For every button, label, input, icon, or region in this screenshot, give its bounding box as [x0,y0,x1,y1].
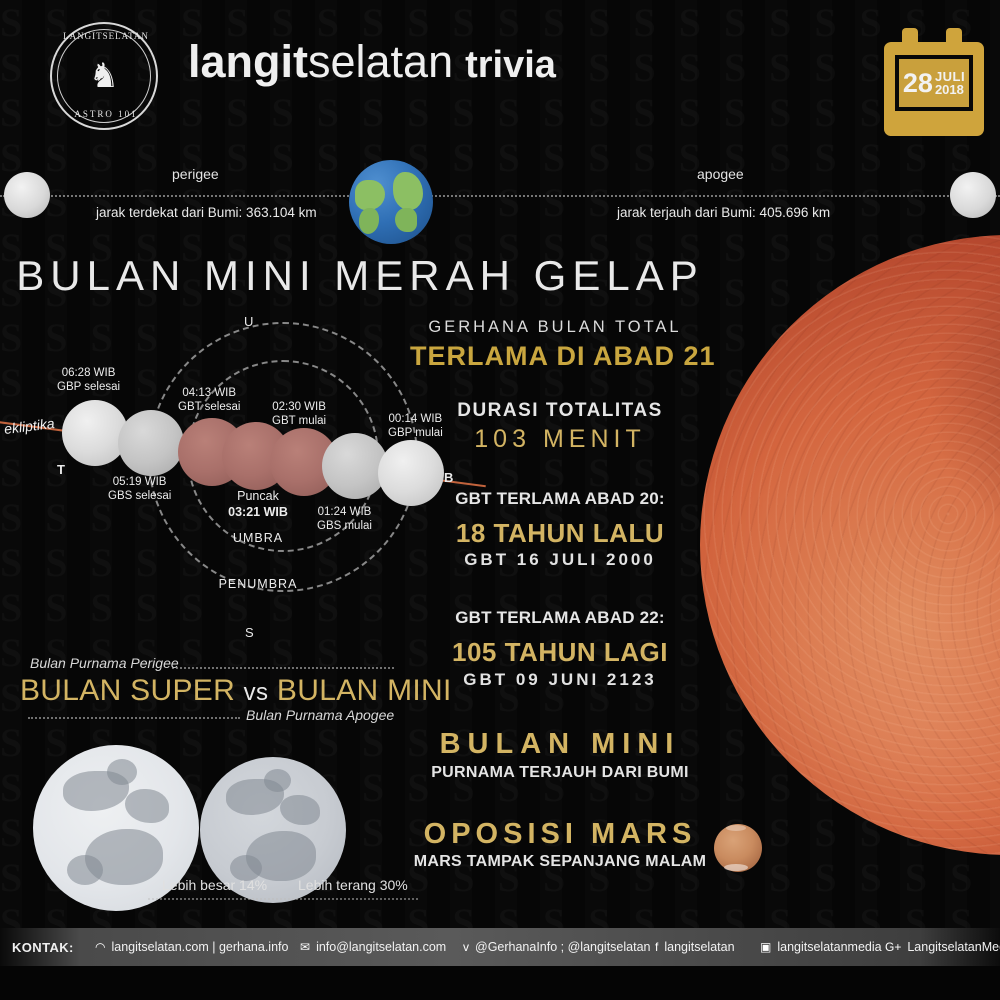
twitter-icon: ᴠ [463,940,469,954]
compare-stat-divider [148,898,418,900]
phase-label-0628: 06:28 WIBGBP selesai [57,366,120,394]
footer-kontak-label: KONTAK: [12,940,74,955]
perigee-moon-icon [4,172,50,218]
compare-title: BULAN SUPER vs BULAN MINI [20,674,410,708]
direction-label-west: B [444,470,453,485]
phase-label-0519: 05:19 WIBGBS selesai [108,475,171,503]
mail-icon: ✉ [300,940,310,954]
footer-instagram[interactable]: ▣ langitselatanmedia [760,940,882,954]
footer-instagram-text: langitselatanmedia [777,940,881,954]
supermoon-vs-minimoon-section: Bulan Purnama Perigee BULAN SUPER vs BUL… [0,655,420,925]
century20-label: GBT TERLAMA ABAD 20: [420,489,700,509]
mars-title: OPOSISI MARS [420,818,700,851]
footer-googleplus-text: LangitselatanMedia [907,940,1000,954]
contact-footer: KONTAK: ◠ langitselatan.com | gerhana.in… [0,928,1000,966]
wordmark-trivia: trivia [465,44,556,86]
apogee-label: apogee [697,166,744,182]
instagram-icon: ▣ [760,940,771,954]
direction-label-east: T [57,462,65,477]
calendar-year: 2018 [935,83,965,96]
footer-website-text: langitselatan.com | gerhana.info [111,940,288,954]
facebook-icon: f [655,940,658,954]
horse-rider-icon: ♞ [89,59,119,93]
main-title: BULAN MINI MERAH GELAP [0,252,720,300]
logo-bottom-text: ASTRO 101 [52,109,160,119]
century22-label: GBT TERLAMA ABAD 22: [420,608,700,628]
compare-title-super: BULAN SUPER [20,674,235,707]
duration-label: DURASI TOTALITAS [420,400,700,422]
phase-label-0230: 02:30 WIBGBT mulai [272,400,326,428]
mars-planet-image [714,824,762,872]
orbit-dotted-line [0,195,1000,197]
umbra-label: UMBRA [198,530,318,546]
direction-label-south: S [245,625,254,640]
compare-top-caption: Bulan Purnama Perigee [30,655,179,671]
compare-bottom-caption: Bulan Purnama Apogee [246,707,394,723]
footer-facebook-text: langitselatan [664,940,734,954]
compare-stat-size: Lebih besar 14% [162,877,267,893]
langitselatan-logo: LANGITSELATAN ♞ ASTRO 101 [50,22,158,130]
mars-subtitle: MARS TAMPAK SEPANJANG MALAM [410,853,710,871]
peak-time: 03:21 WIB [198,504,318,520]
rss-icon: ◠ [95,940,105,954]
wordmark-light: selatan [308,36,453,87]
footer-twitter-text: @GerhanaInfo ; @langitselatan [475,940,650,954]
eclipsed-red-moon-image [700,235,1000,855]
perigee-apogee-band: perigee jarak terdekat dari Bumi: 363.10… [0,150,1000,250]
duration-value: 103 MENIT [420,425,700,454]
footer-facebook[interactable]: f langitselatan [655,940,735,954]
phase-label-0124: 01:24 WIBGBS mulai [317,505,372,533]
century22-date: GBT 09 JUNI 2123 [420,670,700,690]
footer-email-text: info@langitselatan.com [316,940,446,954]
phase-label-0413: 04:13 WIBGBT selesai [178,386,240,414]
wordmark-bold: langit [188,36,308,87]
bottom-strip [0,966,1000,1000]
phase-moon-0628 [62,400,128,466]
header: LANGITSELATAN ♞ ASTRO 101 langitselatant… [0,0,1000,150]
century20-date: GBT 16 JULI 2000 [420,550,700,570]
century22-value: 105 TAHUN LAGI [420,637,700,668]
footer-website[interactable]: ◠ langitselatan.com | gerhana.info [95,940,288,954]
minimoon-subtitle: PURNAMA TERJAUH DARI BUMI [415,764,705,782]
calendar-day: 28 [903,70,933,97]
perigee-label: perigee [172,166,219,182]
infographic-page: SSSSSSSSSSSSSSSSSSSSSSSSSSSSSSSSSSSSSSSS… [0,0,1000,1000]
footer-googleplus[interactable]: G+ LangitselatanMedia [885,940,1000,954]
footer-twitter[interactable]: ᴠ @GerhanaInfo ; @langitselatan [463,940,650,954]
apogee-moon-icon [950,172,996,218]
eclipse-path-diagram: U S T B ekliptika 06:28 WIBGBP selesai 0… [0,300,470,660]
compare-divider-top [172,667,394,669]
century20-value: 18 TAHUN LALU [420,518,700,549]
apogee-distance: jarak terjauh dari Bumi: 405.696 km [617,205,830,220]
peak-label: Puncak [198,488,318,504]
compare-stat-brightness: Lebih terang 30% [298,877,408,893]
compare-title-vs: vs [244,679,269,706]
ecliptic-label: ekliptika [3,415,55,437]
fact-headline-small: GERHANA BULAN TOTAL [410,318,700,337]
perigee-distance: jarak terdekat dari Bumi: 363.104 km [96,205,317,220]
earth-icon [349,160,433,244]
penumbra-label: PENUMBRA [188,576,328,592]
fact-headline-gold: TERLAMA DI ABAD 21 [410,341,700,372]
minimoon-title: BULAN MINI [420,728,700,761]
footer-email[interactable]: ✉ info@langitselatan.com [300,940,446,954]
logo-top-text: LANGITSELATAN [52,31,160,41]
direction-label-north: U [244,314,253,329]
calendar-date-badge: 28 JULI 2018 [884,28,984,136]
wordmark: langitselatantrivia [188,36,556,88]
phase-moon-0519 [118,410,184,476]
compare-divider-bottom [28,717,240,719]
googleplus-icon: G+ [885,940,901,954]
compare-title-mini: BULAN MINI [277,674,452,707]
